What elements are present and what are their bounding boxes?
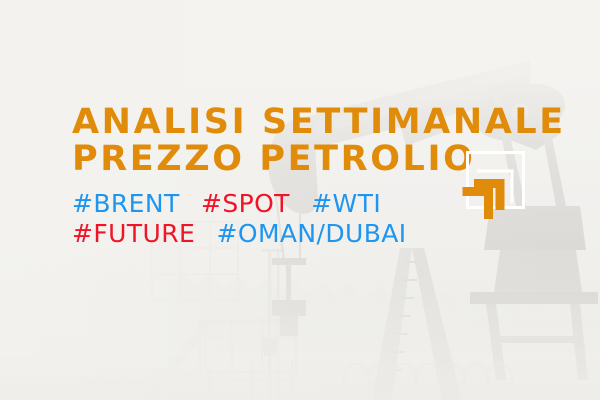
hashtag-spot[interactable]: #SPOT <box>201 189 290 219</box>
hashtag-brent[interactable]: #BRENT <box>72 189 180 219</box>
hashtag-oman-dubai[interactable]: #OMAN/DUBAI <box>217 219 407 249</box>
corner-brackets-logo <box>455 145 535 225</box>
headline-line-1: ANALISI SETTIMANALE <box>72 104 566 141</box>
logo-brackets-icon <box>455 145 535 225</box>
hashtag-wti[interactable]: #WTI <box>311 189 381 219</box>
hashtag-future[interactable]: #FUTURE <box>72 219 195 249</box>
banner-image: ANALISI SETTIMANALE PREZZO PETROLIO #BRE… <box>0 0 600 400</box>
